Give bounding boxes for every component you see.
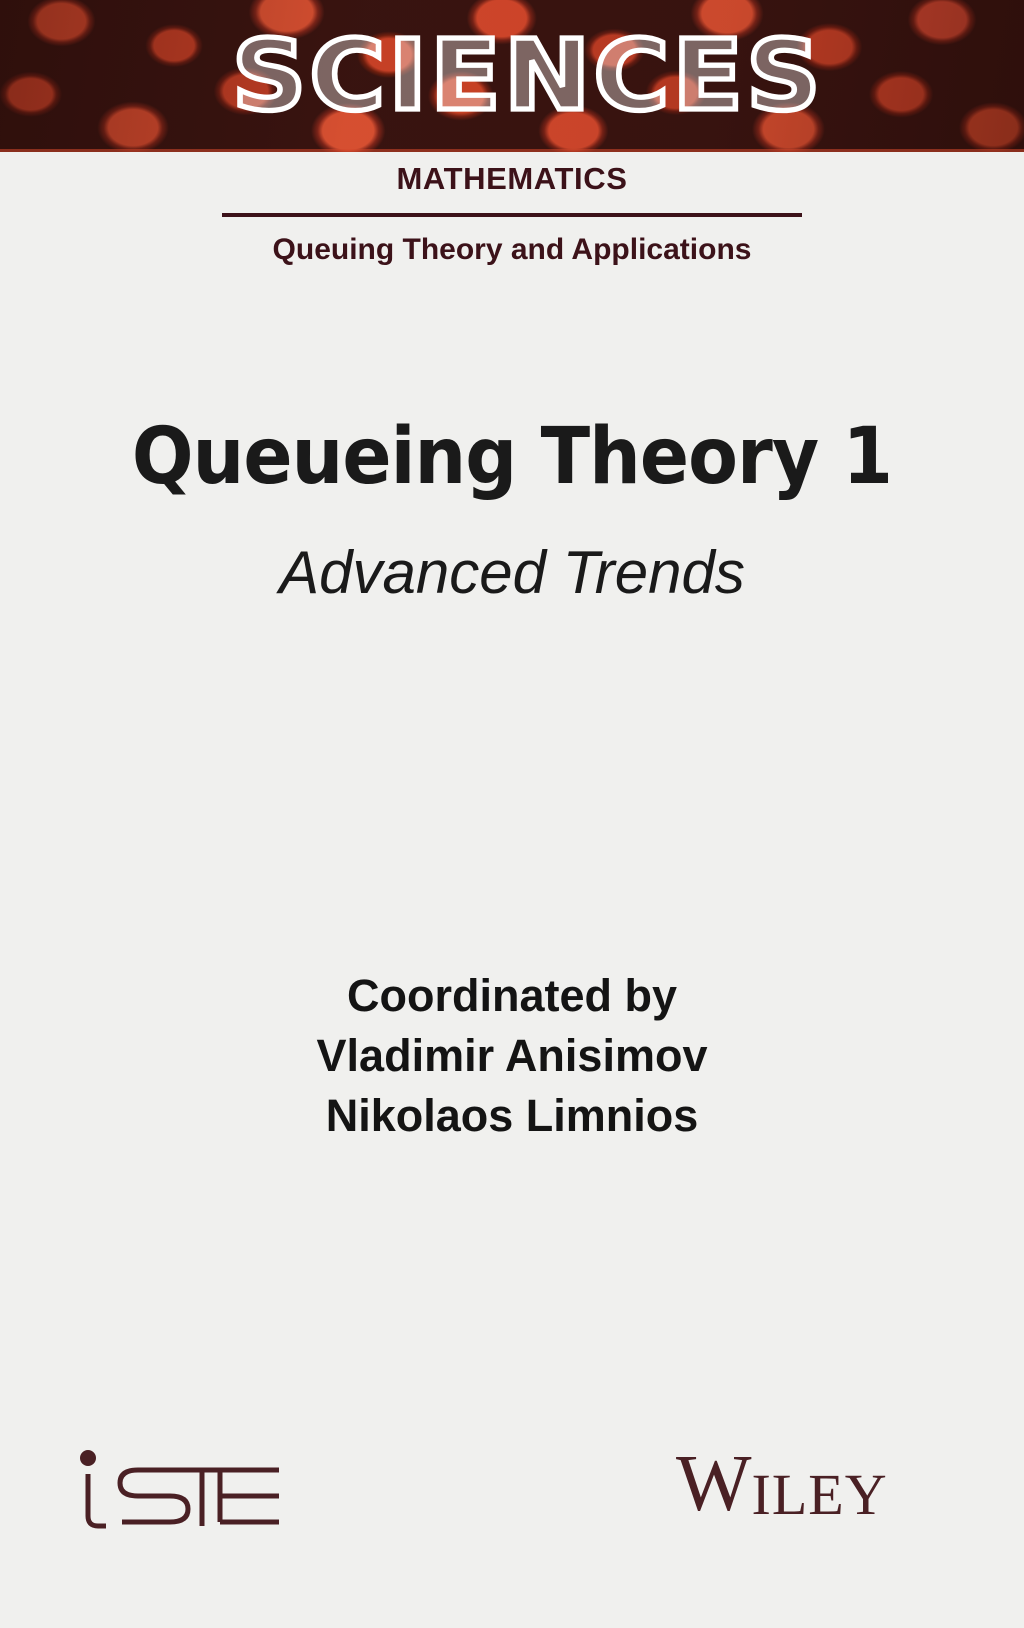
iste-logo-dot	[80, 1450, 96, 1466]
sciences-wordmark: SCIENCES	[0, 0, 1024, 152]
series-topic-label: Queuing Theory and Applications	[0, 235, 1024, 265]
author-name: Nikolaos Limnios	[0, 1086, 1024, 1146]
series-domain-label: MATHEMATICS	[0, 163, 1024, 194]
page-title: Queueing Theory 1	[36, 418, 988, 498]
authors-credit-line: Coordinated by	[0, 966, 1024, 1026]
wiley-logo-capital: W	[676, 1444, 752, 1524]
book-cover: SCIENCES MATHEMATICS Queuing Theory and …	[0, 0, 1024, 1628]
authors-block: Coordinated by Vladimir Anisimov Nikolao…	[0, 966, 1024, 1146]
iste-logo-icon	[74, 1440, 284, 1532]
sciences-wordmark-text: SCIENCES	[200, 27, 823, 125]
author-name: Vladimir Anisimov	[0, 1026, 1024, 1086]
series-banner: SCIENCES	[0, 0, 1024, 152]
wiley-logo-smallcaps: ILEY	[752, 1466, 888, 1524]
series-divider-rule	[222, 213, 802, 217]
wiley-logo: WILEY	[676, 1432, 926, 1524]
iste-logo	[74, 1440, 284, 1532]
book-subtitle: Advanced Trends	[0, 543, 1024, 603]
title-block: Queueing Theory 1 Advanced Trends	[0, 418, 1024, 603]
series-info: MATHEMATICS Queuing Theory and Applicati…	[0, 163, 1024, 265]
